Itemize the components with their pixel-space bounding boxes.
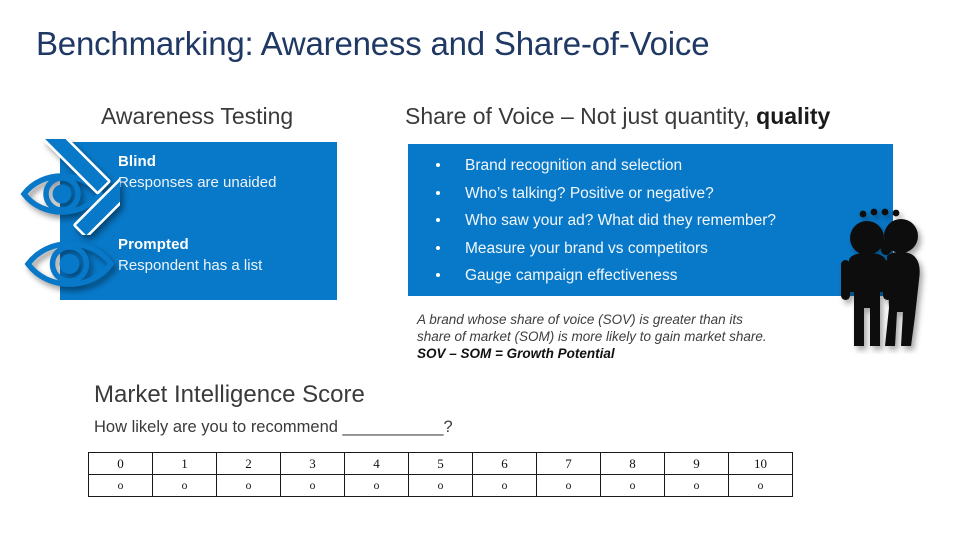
list-item-label: Who saw your ad? What did they remember?: [465, 212, 776, 229]
share-of-voice-heading-emphasis: quality: [756, 103, 830, 129]
slide-canvas: Benchmarking: Awareness and Share-of-Voi…: [0, 0, 960, 540]
list-item: Who’s talking? Positive or negative?: [422, 180, 776, 208]
scale-label-cell: 9: [665, 453, 729, 475]
score-scale-table: 0 1 2 3 4 5 6 7 8 9 10 o o o o o o o o: [88, 452, 793, 497]
awareness-item-prompted-description: Respondent has a list: [118, 255, 262, 277]
scale-label-cell: 1: [153, 453, 217, 475]
table-row: 0 1 2 3 4 5 6 7 8 9 10: [89, 453, 793, 475]
share-of-voice-note: A brand whose share of voice (SOV) is gr…: [417, 311, 857, 363]
list-item: Brand recognition and selection: [422, 152, 776, 180]
scale-label-cell: 7: [537, 453, 601, 475]
share-of-voice-note-line-1: A brand whose share of voice (SOV) is gr…: [417, 311, 857, 328]
share-of-voice-panel: Brand recognition and selection Who’s ta…: [408, 144, 893, 296]
list-item-label: Measure your brand vs competitors: [465, 240, 708, 257]
awareness-item-blind: Blind Responses are unaided: [118, 152, 276, 194]
list-item-label: Brand recognition and selection: [465, 157, 682, 174]
list-item: Measure your brand vs competitors: [422, 235, 776, 263]
market-intelligence-section-heading: Market Intelligence Score: [94, 381, 365, 409]
market-intelligence-question: How likely are you to recommend ________…: [94, 416, 453, 438]
scale-label-cell: 3: [281, 453, 345, 475]
list-item-label: Who’s talking? Positive or negative?: [465, 185, 714, 202]
list-item-label: Gauge campaign effectiveness: [465, 267, 678, 284]
eye-icon: [22, 228, 117, 300]
bullet-dot-icon: [436, 273, 440, 277]
awareness-item-prompted-title: Prompted: [118, 235, 262, 255]
list-item: Gauge campaign effectiveness: [422, 262, 776, 290]
scale-option-cell[interactable]: o: [409, 475, 473, 497]
scale-option-cell[interactable]: o: [345, 475, 409, 497]
awareness-item-prompted: Prompted Respondent has a list: [118, 235, 262, 277]
list-item: Who saw your ad? What did they remember?: [422, 207, 776, 235]
awareness-section-heading: Awareness Testing: [101, 102, 293, 130]
bullet-dot-icon: [436, 163, 440, 167]
scale-option-cell[interactable]: o: [153, 475, 217, 497]
scale-option-cell[interactable]: o: [217, 475, 281, 497]
scale-option-cell[interactable]: o: [473, 475, 537, 497]
scale-label-cell: 5: [409, 453, 473, 475]
share-of-voice-formula: SOV – SOM = Growth Potential: [417, 345, 857, 363]
scale-label-cell: 8: [601, 453, 665, 475]
share-of-voice-section-heading: Share of Voice – Not just quantity, qual…: [405, 102, 830, 130]
awareness-item-blind-description: Responses are unaided: [118, 172, 276, 194]
scale-option-cell[interactable]: o: [537, 475, 601, 497]
scale-label-cell: 10: [729, 453, 793, 475]
scale-label-cell: 2: [217, 453, 281, 475]
scale-option-cell[interactable]: o: [281, 475, 345, 497]
scale-label-cell: 4: [345, 453, 409, 475]
scale-option-cell[interactable]: o: [601, 475, 665, 497]
share-of-voice-bullet-list: Brand recognition and selection Who’s ta…: [422, 152, 776, 290]
table-row: o o o o o o o o o o o: [89, 475, 793, 497]
scale-option-cell[interactable]: o: [89, 475, 153, 497]
bullet-dot-icon: [436, 246, 440, 250]
scale-option-cell[interactable]: o: [729, 475, 793, 497]
share-of-voice-heading-normal: Share of Voice – Not just quantity,: [405, 103, 756, 129]
scale-label-cell: 0: [89, 453, 153, 475]
bullet-dot-icon: [436, 218, 440, 222]
awareness-item-blind-title: Blind: [118, 152, 276, 172]
scale-label-cell: 6: [473, 453, 537, 475]
eye-crossed-out-icon: [16, 139, 120, 235]
scale-option-cell[interactable]: o: [665, 475, 729, 497]
bullet-dot-icon: [436, 191, 440, 195]
page-title: Benchmarking: Awareness and Share-of-Voi…: [36, 24, 709, 64]
share-of-voice-note-line-2: share of market (SOM) is more likely to …: [417, 328, 857, 345]
